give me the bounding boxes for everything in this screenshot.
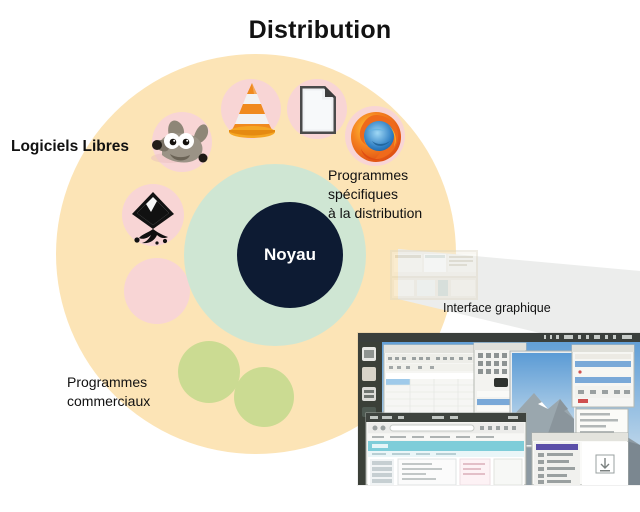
inkscape-icon bbox=[124, 188, 182, 246]
label-commercial-programs: Programmes commerciaux bbox=[67, 373, 150, 411]
commercial-blob-2 bbox=[234, 367, 294, 427]
page-title: Distribution bbox=[0, 16, 640, 45]
commercial-blob-1 bbox=[178, 341, 240, 403]
kernel-label: Noyau bbox=[264, 245, 316, 265]
desktop-screenshot[interactable] bbox=[358, 333, 640, 485]
libreoffice-icon bbox=[290, 80, 344, 140]
label-graphical-interface: Interface graphique bbox=[443, 299, 551, 318]
desktop-screenshot-thumbnail bbox=[390, 250, 478, 300]
vlc-icon bbox=[224, 80, 280, 140]
free-software-blob-6 bbox=[124, 258, 190, 324]
label-free-software: Logiciels Libres bbox=[11, 137, 129, 156]
firefox-icon bbox=[348, 109, 404, 165]
label-specific-programs: Programmes spécifiques à la distribution bbox=[328, 166, 422, 223]
gimp-icon bbox=[148, 110, 216, 172]
